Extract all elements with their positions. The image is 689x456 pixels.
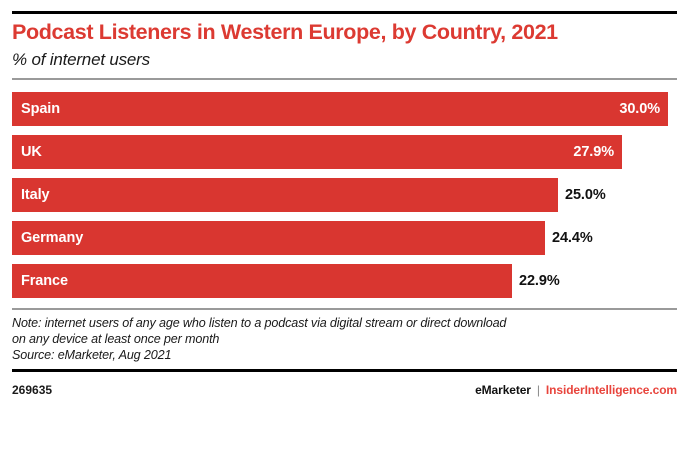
bar-row: Italy 25.0% <box>12 178 677 212</box>
bar-value-label: 24.4% <box>552 230 593 246</box>
note-line-2: on any device at least once per month <box>12 331 677 347</box>
bar-spain: Spain 30.0% <box>12 92 668 126</box>
bar-category-label: France <box>21 273 68 289</box>
bar-uk: UK 27.9% <box>12 135 622 169</box>
bar-value-label: 30.0% <box>619 101 660 117</box>
chart-footnote: Note: internet users of any age who list… <box>12 310 677 363</box>
bar-row: Germany 24.4% <box>12 221 677 255</box>
source-line: Source: eMarketer, Aug 2021 <box>12 347 677 363</box>
bar-category-label: Italy <box>21 187 50 203</box>
bar-category-label: Germany <box>21 230 83 246</box>
brand-emarketer: eMarketer <box>475 383 531 397</box>
bar-value-label: 25.0% <box>565 187 606 203</box>
bar-category-label: Spain <box>21 101 60 117</box>
note-line-1: Note: internet users of any age who list… <box>12 315 677 331</box>
bar-row: France 22.9% <box>12 264 677 298</box>
bar-germany: Germany <box>12 221 545 255</box>
chart-header: Podcast Listeners in Western Europe, by … <box>12 14 677 78</box>
page-title: Podcast Listeners in Western Europe, by … <box>12 20 677 47</box>
footer-bar: 269635 eMarketer | InsiderIntelligence.c… <box>12 378 677 397</box>
footer-divider <box>12 369 677 372</box>
brand-credit: eMarketer | InsiderIntelligence.com <box>475 383 677 397</box>
bar-italy: Italy <box>12 178 558 212</box>
bar-value-label: 27.9% <box>573 144 614 160</box>
chart-subtitle: % of internet users <box>12 50 677 78</box>
brand-separator: | <box>537 383 540 397</box>
brand-website[interactable]: InsiderIntelligence.com <box>546 383 677 397</box>
bar-category-label: UK <box>21 144 42 160</box>
bar-france: France <box>12 264 512 298</box>
bar-row: Spain 30.0% <box>12 92 677 126</box>
bar-value-label: 22.9% <box>519 273 560 289</box>
chart-id: 269635 <box>12 383 52 397</box>
bar-chart-plot: Spain 30.0% UK 27.9% Italy 25.0% Germany… <box>12 80 677 308</box>
bar-row: UK 27.9% <box>12 135 677 169</box>
chart-card: Podcast Listeners in Western Europe, by … <box>0 11 689 456</box>
